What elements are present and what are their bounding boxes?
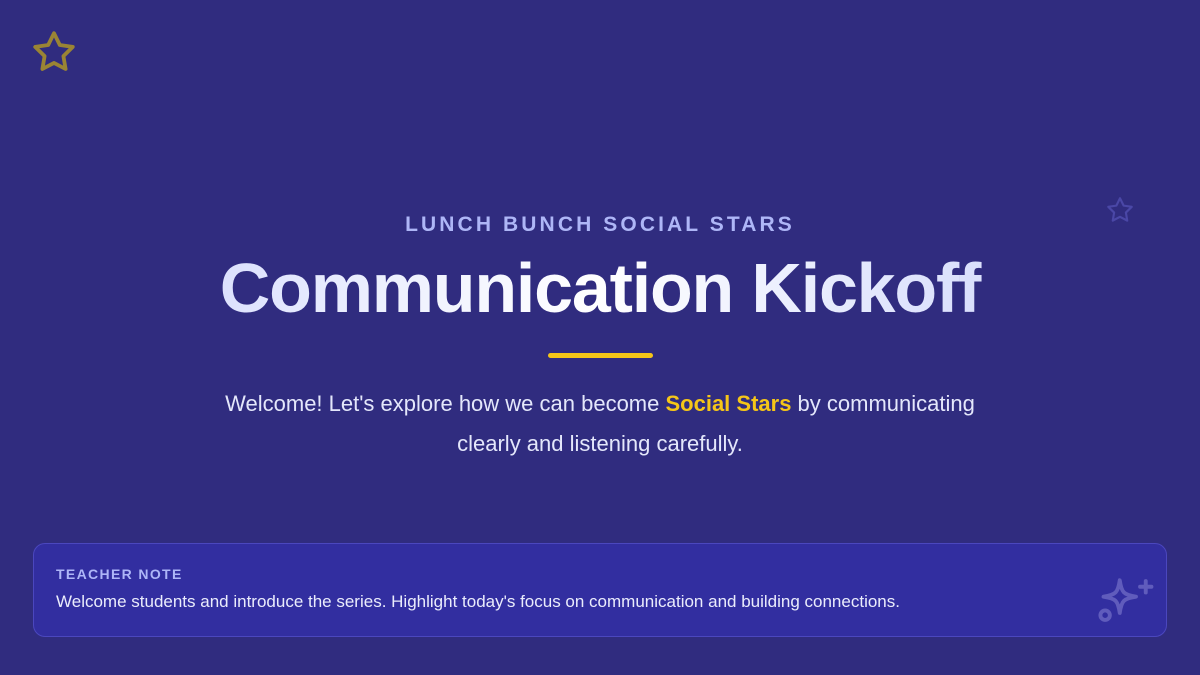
sparkle-icon xyxy=(1084,564,1162,637)
subtitle-text-before: Welcome! Let's explore how we can become xyxy=(225,391,665,416)
title-divider xyxy=(548,353,653,358)
slide-subtitle: Welcome! Let's explore how we can become… xyxy=(220,384,980,464)
star-icon xyxy=(30,28,78,76)
slide-eyebrow: LUNCH BUNCH SOCIAL STARS xyxy=(0,212,1200,237)
teacher-note-label: TEACHER NOTE xyxy=(56,566,1140,582)
teacher-note-body: Welcome students and introduce the serie… xyxy=(56,591,1140,614)
page-title: Communication Kickoff xyxy=(0,251,1200,327)
slide: LUNCH BUNCH SOCIAL STARS Communication K… xyxy=(0,0,1200,675)
subtitle-highlight: Social Stars xyxy=(665,391,791,416)
teacher-note-card: TEACHER NOTE Welcome students and introd… xyxy=(33,543,1167,637)
slide-content: LUNCH BUNCH SOCIAL STARS Communication K… xyxy=(0,212,1200,464)
